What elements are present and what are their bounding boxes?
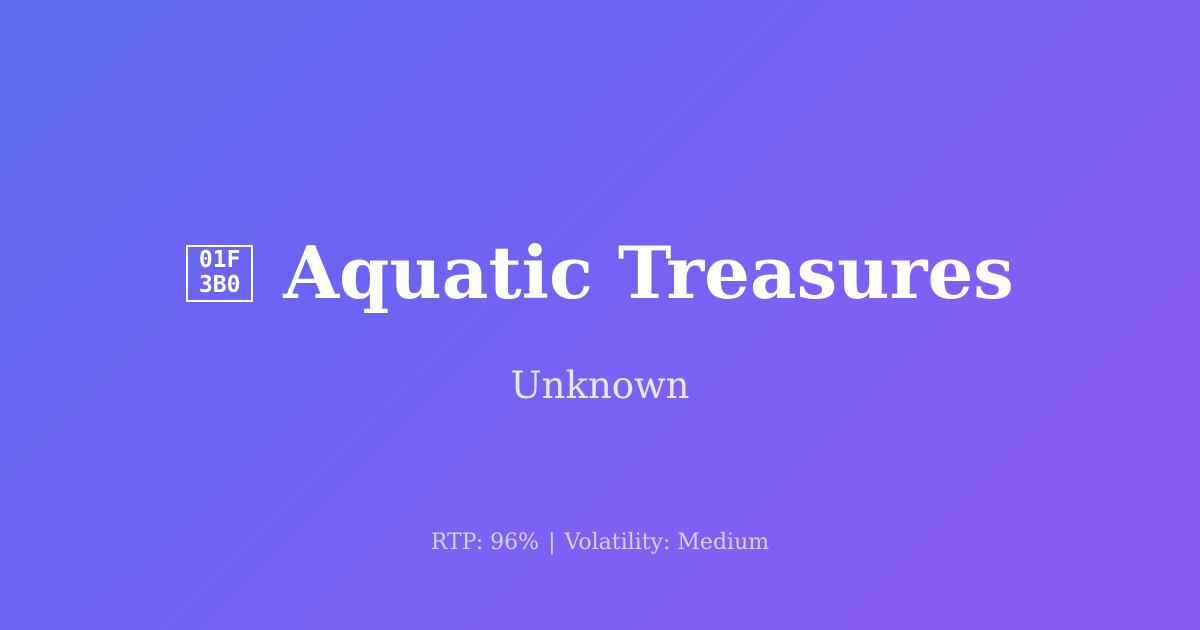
volatility-value: Medium bbox=[677, 530, 769, 555]
rtp-value: 96% bbox=[490, 530, 539, 555]
title-row: 01F 3B0 Aquatic Treasures bbox=[0, 232, 1200, 314]
game-provider: Unknown bbox=[0, 362, 1200, 410]
rtp-label: RTP: bbox=[431, 530, 483, 555]
tofu-codepoint-line-2: 3B0 bbox=[199, 273, 241, 298]
game-preview-card: 01F 3B0 Aquatic Treasures Unknown RTP: 9… bbox=[0, 0, 1200, 630]
tofu-codepoint-line-1: 01F bbox=[199, 248, 241, 273]
stats-separator: | bbox=[546, 530, 557, 555]
slot-machine-emoji-tofu-icon: 01F 3B0 bbox=[186, 245, 253, 302]
game-stats-line: RTP: 96% | Volatility: Medium bbox=[0, 528, 1200, 558]
volatility-label: Volatility: bbox=[565, 530, 671, 555]
game-title: Aquatic Treasures bbox=[283, 232, 1014, 314]
